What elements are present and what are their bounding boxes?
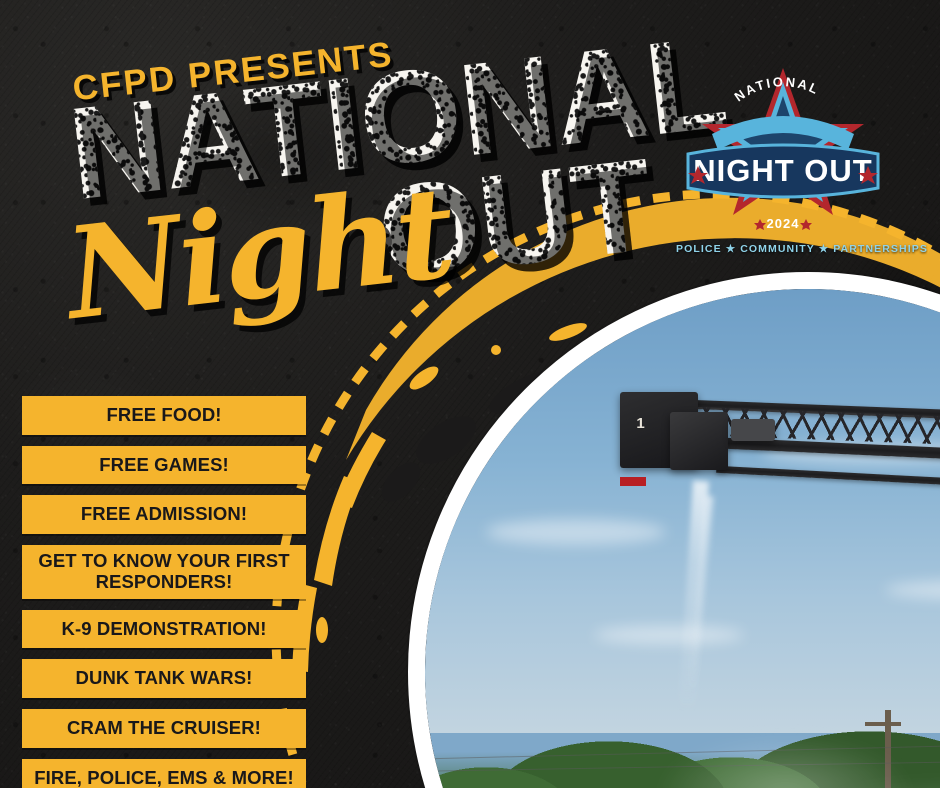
logo-main-banner: NIGHT OUT — [688, 145, 878, 197]
logo-nightout-text: NIGHT OUT — [693, 153, 873, 188]
bucket-monitor-housing — [670, 412, 728, 470]
feature-item: FIRE, POLICE, EMS & MORE! — [22, 759, 306, 788]
feature-item: FREE FOOD! — [22, 396, 306, 435]
cloud — [594, 626, 744, 644]
feature-item: DUNK TANK WARS! — [22, 659, 306, 698]
logo-tagline: POLICE ★ COMMUNITY ★ PARTNERSHIPS — [676, 243, 894, 255]
feature-item: GET TO KNOW YOUR FIRST RESPONDERS! — [22, 545, 306, 598]
flyer-canvas: 1 — [0, 0, 940, 788]
feature-item: FREE ADMISSION! — [22, 495, 306, 534]
bucket-number: 1 — [636, 415, 644, 432]
cloud — [486, 519, 666, 545]
feature-item: CRAM THE CRUISER! — [22, 709, 306, 748]
event-photo-frame: 1 — [408, 272, 940, 788]
logo-year: 2024 — [754, 216, 812, 231]
national-night-out-logo: NATIONAL NIGHT OUT 2024 — [672, 62, 894, 247]
event-photo: 1 — [425, 289, 940, 788]
utility-pole-crossarm — [865, 722, 901, 726]
bucket-platform — [731, 419, 775, 441]
feature-item: K-9 DEMONSTRATION! — [22, 610, 306, 649]
features-list: FREE FOOD! FREE GAMES! FREE ADMISSION! G… — [22, 396, 306, 788]
logo-year-text: 2024 — [767, 216, 800, 231]
feature-item: FREE GAMES! — [22, 446, 306, 485]
bucket-red-stripe — [620, 477, 646, 486]
water-mist — [793, 779, 940, 788]
